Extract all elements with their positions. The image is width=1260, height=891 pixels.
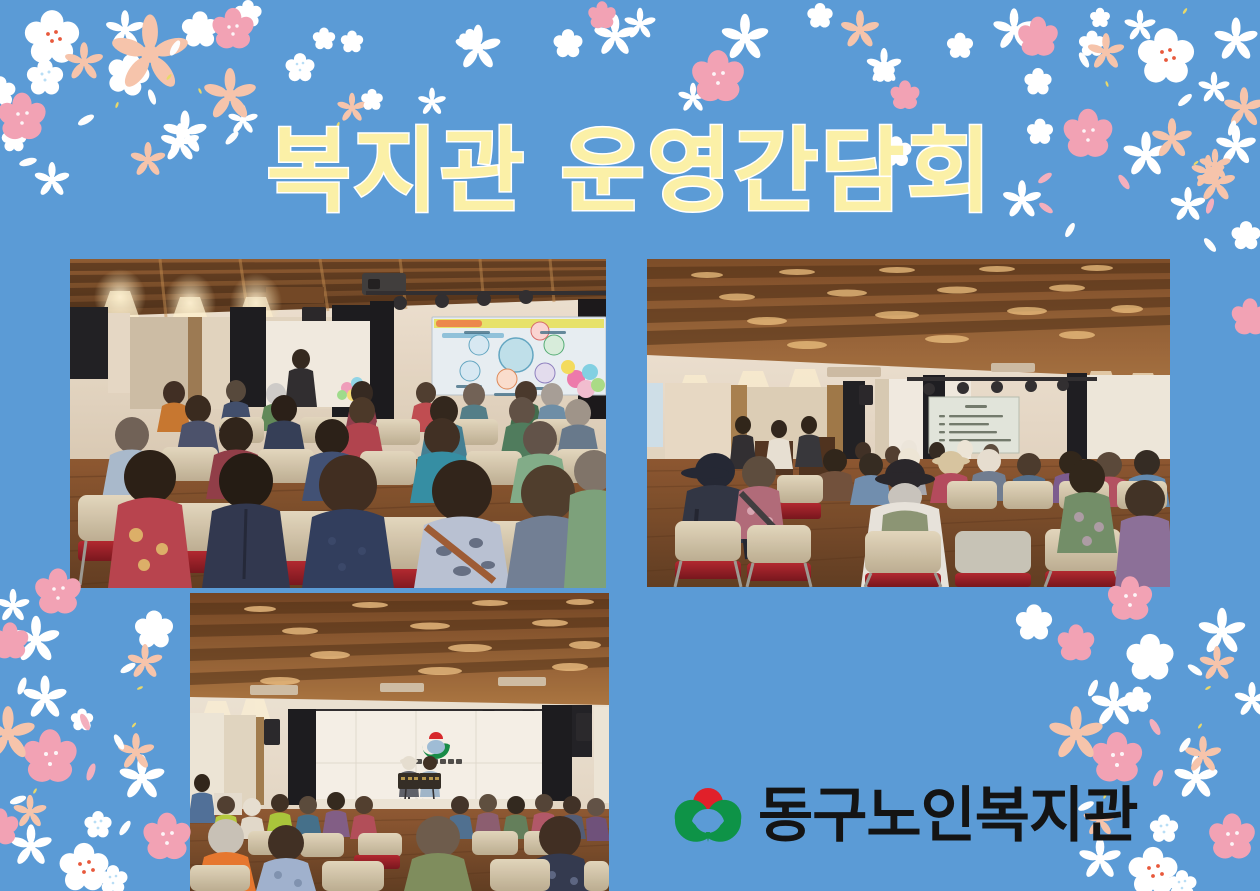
photo-2-scene <box>647 259 1170 587</box>
welfare-trefoil-icon <box>672 784 744 848</box>
photo-3-illustration <box>190 593 609 891</box>
poster-canvas: 복지관 운영간담회 동구노인복지관 <box>0 0 1260 891</box>
organization-logo: 동구노인복지관 <box>672 784 1137 848</box>
organization-name: 동구노인복지관 <box>758 786 1137 846</box>
photo-1-illustration <box>70 259 606 588</box>
photo-1-scene <box>70 259 606 588</box>
page-title: 복지관 운영간담회 <box>0 126 1260 218</box>
photo-auditorium-wide <box>647 259 1170 587</box>
photo-stage-performance <box>190 593 609 891</box>
photo-auditorium-audience <box>70 259 606 588</box>
photo-3-scene <box>190 593 609 891</box>
photo-2-illustration <box>647 259 1170 587</box>
